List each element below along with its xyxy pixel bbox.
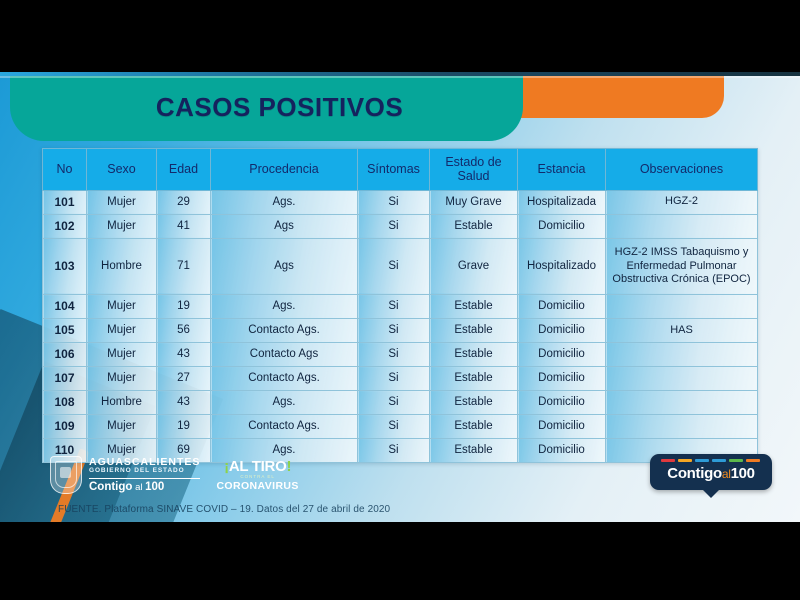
cell-estancia: Domicilio	[518, 343, 606, 367]
cell-no: 103	[43, 238, 87, 294]
column-header-observaciones[interactable]: Observaciones	[606, 149, 758, 191]
column-header-sexo[interactable]: Sexo	[87, 149, 157, 191]
aguascalientes-government-logo: AGUASCALIENTES GOBIERNO DEL ESTADO Conti…	[50, 456, 200, 494]
cell-edad: 27	[157, 367, 211, 391]
cell-sexo: Mujer	[87, 295, 157, 319]
cell-sintomas: Si	[358, 367, 430, 391]
cell-procedencia: Ags	[211, 214, 358, 238]
cell-sintomas: Si	[358, 415, 430, 439]
cell-estado-salud: Estable	[430, 295, 518, 319]
cell-estado-salud: Estable	[430, 391, 518, 415]
table-row[interactable]: 108Hombre43Ags.SiEstableDomicilio	[43, 391, 758, 415]
slide-top-highlight	[0, 76, 800, 78]
cell-estancia: Domicilio	[518, 367, 606, 391]
column-header-edad[interactable]: Edad	[157, 149, 211, 191]
cell-no: 107	[43, 367, 87, 391]
altiro-logo-middle: CONTRA EL	[240, 475, 275, 480]
cell-edad: 41	[157, 214, 211, 238]
table-row[interactable]: 105Mujer56Contacto Ags.SiEstableDomicili…	[43, 319, 758, 343]
contigo-al-100-badge: Contigoal100	[650, 454, 772, 490]
badge-contigo-text: Contigo	[667, 465, 722, 482]
cell-sexo: Mujer	[87, 214, 157, 238]
gov-al-text: al	[132, 482, 145, 493]
footer-logo-group: AGUASCALIENTES GOBIERNO DEL ESTADO Conti…	[50, 456, 299, 494]
al-tiro-coronavirus-logo: ¡AL TIRO! CONTRA EL CORONAVIRUS	[216, 459, 298, 491]
badge-color-stripes	[661, 459, 760, 462]
cell-edad: 43	[157, 391, 211, 415]
cell-observaciones	[606, 367, 758, 391]
cell-edad: 29	[157, 190, 211, 214]
cell-estancia: Domicilio	[518, 415, 606, 439]
table-row[interactable]: 103Hombre71AgsSiGraveHospitalizadoHGZ-2 …	[43, 238, 758, 294]
cell-estado-salud: Estable	[430, 415, 518, 439]
cell-procedencia: Contacto Ags	[211, 343, 358, 367]
cell-procedencia: Contacto Ags.	[211, 319, 358, 343]
altiro-top-text: AL TIRO	[229, 458, 287, 475]
table-row[interactable]: 102Mujer41AgsSiEstableDomicilio	[43, 214, 758, 238]
header-teal-banner: CASOS POSITIVOS	[10, 73, 523, 141]
column-header-procedencia[interactable]: Procedencia	[211, 149, 358, 191]
cell-edad: 56	[157, 319, 211, 343]
letterbox-bottom	[0, 522, 800, 600]
cell-sexo: Mujer	[87, 415, 157, 439]
cell-sintomas: Si	[358, 214, 430, 238]
cell-sintomas: Si	[358, 391, 430, 415]
cell-estancia: Hospitalizado	[518, 238, 606, 294]
badge-stripe	[712, 459, 726, 462]
gov-logo-line3: Contigo al 100	[89, 482, 200, 494]
cell-observaciones	[606, 214, 758, 238]
cell-procedencia: Ags.	[211, 391, 358, 415]
column-header-no[interactable]: No	[43, 149, 87, 191]
badge-stripe	[661, 459, 675, 462]
cell-observaciones	[606, 295, 758, 319]
cell-sexo: Mujer	[87, 190, 157, 214]
column-header-estado-salud[interactable]: Estado de Salud	[430, 149, 518, 191]
badge-al-text: al	[722, 467, 731, 481]
cell-no: 108	[43, 391, 87, 415]
cell-edad: 71	[157, 238, 211, 294]
table-row[interactable]: 109Mujer19Contacto Ags.SiEstableDomicili…	[43, 415, 758, 439]
cell-sintomas: Si	[358, 238, 430, 294]
cell-procedencia: Contacto Ags.	[211, 367, 358, 391]
page-title: CASOS POSITIVOS	[10, 73, 523, 141]
cell-estado-salud: Estable	[430, 214, 518, 238]
cell-no: 102	[43, 214, 87, 238]
cell-sexo: Hombre	[87, 238, 157, 294]
cell-estancia: Hospitalizada	[518, 190, 606, 214]
source-note: FUENTE. Plataforma SINAVE COVID – 19. Da…	[58, 504, 390, 515]
altiro-logo-bottom: CORONAVIRUS	[216, 481, 298, 492]
cell-sintomas: Si	[358, 190, 430, 214]
cell-edad: 43	[157, 343, 211, 367]
cell-observaciones	[606, 415, 758, 439]
cell-no: 104	[43, 295, 87, 319]
cell-procedencia: Ags.	[211, 190, 358, 214]
cell-estado-salud: Estable	[430, 367, 518, 391]
cell-sintomas: Si	[358, 319, 430, 343]
cell-sexo: Mujer	[87, 319, 157, 343]
cell-estado-salud: Estable	[430, 439, 518, 463]
table-row[interactable]: 101Mujer29Ags.SiMuy GraveHospitalizadaHG…	[43, 190, 758, 214]
slide-canvas: CASOS POSITIVOS No Sexo Edad Procedencia…	[0, 72, 800, 522]
cell-estancia: Domicilio	[518, 319, 606, 343]
cell-no: 106	[43, 343, 87, 367]
cell-estado-salud: Estable	[430, 343, 518, 367]
column-header-sintomas[interactable]: Síntomas	[358, 149, 430, 191]
table-header-row: No Sexo Edad Procedencia Síntomas Estado…	[43, 149, 758, 191]
gov-logo-line2: GOBIERNO DEL ESTADO	[89, 468, 200, 475]
gov-logo-divider	[89, 478, 200, 479]
positive-cases-table: No Sexo Edad Procedencia Síntomas Estado…	[42, 148, 758, 463]
badge-stripe	[746, 459, 760, 462]
cell-sexo: Mujer	[87, 367, 157, 391]
altiro-logo-top: ¡AL TIRO!	[224, 459, 291, 474]
altiro-bang-right: !	[286, 458, 291, 475]
cell-sexo: Hombre	[87, 391, 157, 415]
cell-procedencia: Contacto Ags.	[211, 415, 358, 439]
cell-edad: 19	[157, 295, 211, 319]
badge-stripe	[695, 459, 709, 462]
gov-100-text: 100	[145, 481, 164, 493]
cell-observaciones: HGZ-2	[606, 190, 758, 214]
cell-observaciones	[606, 391, 758, 415]
badge-stripe	[729, 459, 743, 462]
cell-estancia: Domicilio	[518, 295, 606, 319]
cell-no: 101	[43, 190, 87, 214]
cell-sintomas: Si	[358, 295, 430, 319]
cell-estado-salud: Estable	[430, 319, 518, 343]
screenshot-stage: CASOS POSITIVOS No Sexo Edad Procedencia…	[0, 0, 800, 600]
cell-edad: 19	[157, 415, 211, 439]
cell-no: 105	[43, 319, 87, 343]
table-row[interactable]: 106Mujer43Contacto AgsSiEstableDomicilio	[43, 343, 758, 367]
cell-estancia: Domicilio	[518, 439, 606, 463]
table-body: 101Mujer29Ags.SiMuy GraveHospitalizadaHG…	[43, 190, 758, 462]
cell-estancia: Domicilio	[518, 214, 606, 238]
cell-observaciones: HAS	[606, 319, 758, 343]
cell-estado-salud: Muy Grave	[430, 190, 518, 214]
cell-procedencia: Ags.	[211, 295, 358, 319]
cell-estado-salud: Grave	[430, 238, 518, 294]
column-header-estancia[interactable]: Estancia	[518, 149, 606, 191]
badge-100-text: 100	[731, 465, 755, 482]
cell-sintomas: Si	[358, 439, 430, 463]
cell-sexo: Mujer	[87, 343, 157, 367]
gov-contigo-text: Contigo	[89, 481, 132, 493]
badge-label: Contigoal100	[650, 465, 772, 482]
cell-sintomas: Si	[358, 343, 430, 367]
cell-observaciones	[606, 343, 758, 367]
table-row[interactable]: 104Mujer19Ags.SiEstableDomicilio	[43, 295, 758, 319]
coat-of-arms-icon	[50, 456, 82, 494]
cell-no: 109	[43, 415, 87, 439]
badge-stripe	[678, 459, 692, 462]
letterbox-top	[0, 0, 800, 72]
gov-logo-text: AGUASCALIENTES GOBIERNO DEL ESTADO Conti…	[89, 457, 200, 494]
cell-estancia: Domicilio	[518, 391, 606, 415]
gov-logo-line1: AGUASCALIENTES	[89, 457, 200, 468]
cell-procedencia: Ags	[211, 238, 358, 294]
table-row[interactable]: 107Mujer27Contacto Ags.SiEstableDomicili…	[43, 367, 758, 391]
cell-observaciones: HGZ-2 IMSS Tabaquismo y Enfermedad Pulmo…	[606, 238, 758, 294]
